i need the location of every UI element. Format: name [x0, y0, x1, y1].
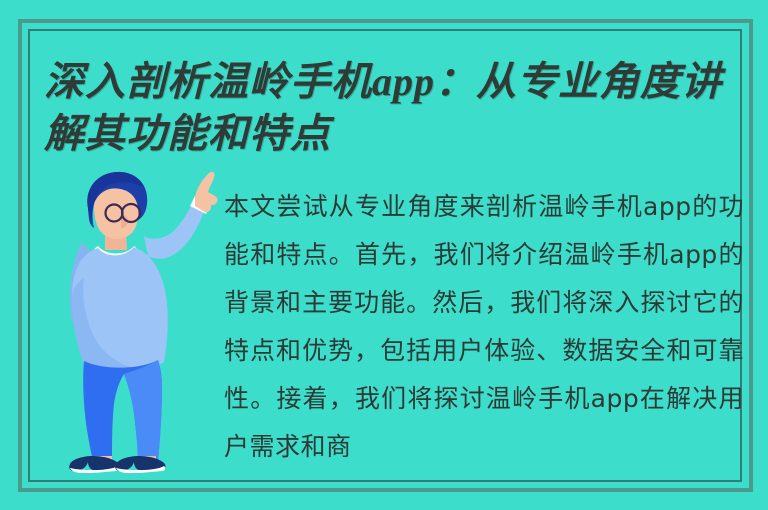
- pants-shade-shape: [124, 360, 162, 462]
- article-card: 深入剖析温岭手机app：从专业角度讲解其功能和特点 本文尝试从专业角度来剖析温岭…: [0, 0, 768, 510]
- pointing-hand-shape: [195, 172, 217, 212]
- page-title: 深入剖析温岭手机app：从专业角度讲解其功能和特点: [44, 56, 744, 160]
- right-arm-shape: [144, 204, 204, 259]
- article-body: 本文尝试从专业角度来剖析温岭手机app的功能和特点。首先，我们将介绍温岭手机ap…: [224, 183, 744, 483]
- person-pointing-illustration: [48, 168, 223, 473]
